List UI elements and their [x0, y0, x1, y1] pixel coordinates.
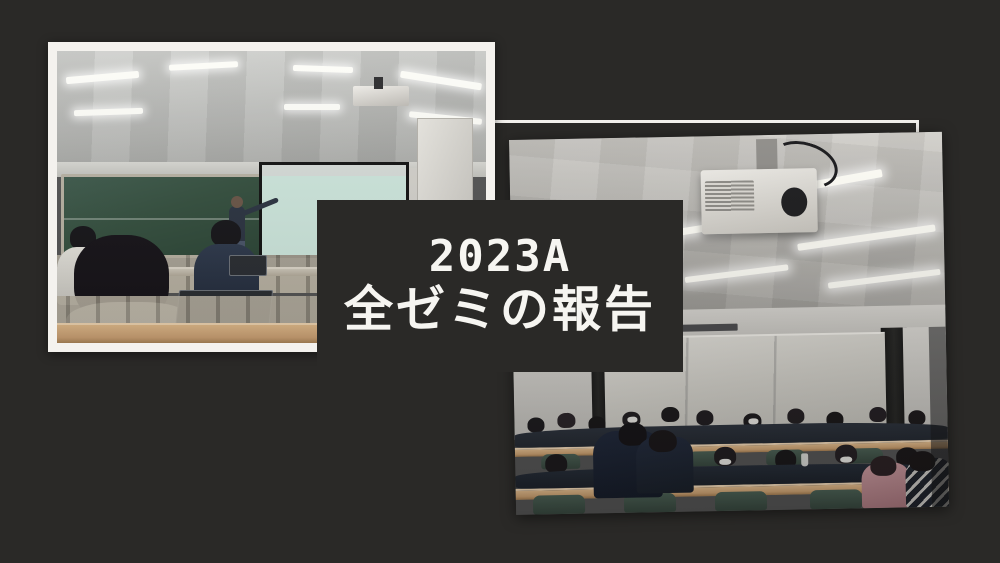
- presentation-slide: 2023A 全ゼミの報告: [0, 0, 1000, 563]
- title-line-year: 2023A: [429, 234, 571, 280]
- title-line-heading: 全ゼミの報告: [344, 283, 656, 338]
- title-card: 2023A 全ゼミの報告: [317, 200, 683, 372]
